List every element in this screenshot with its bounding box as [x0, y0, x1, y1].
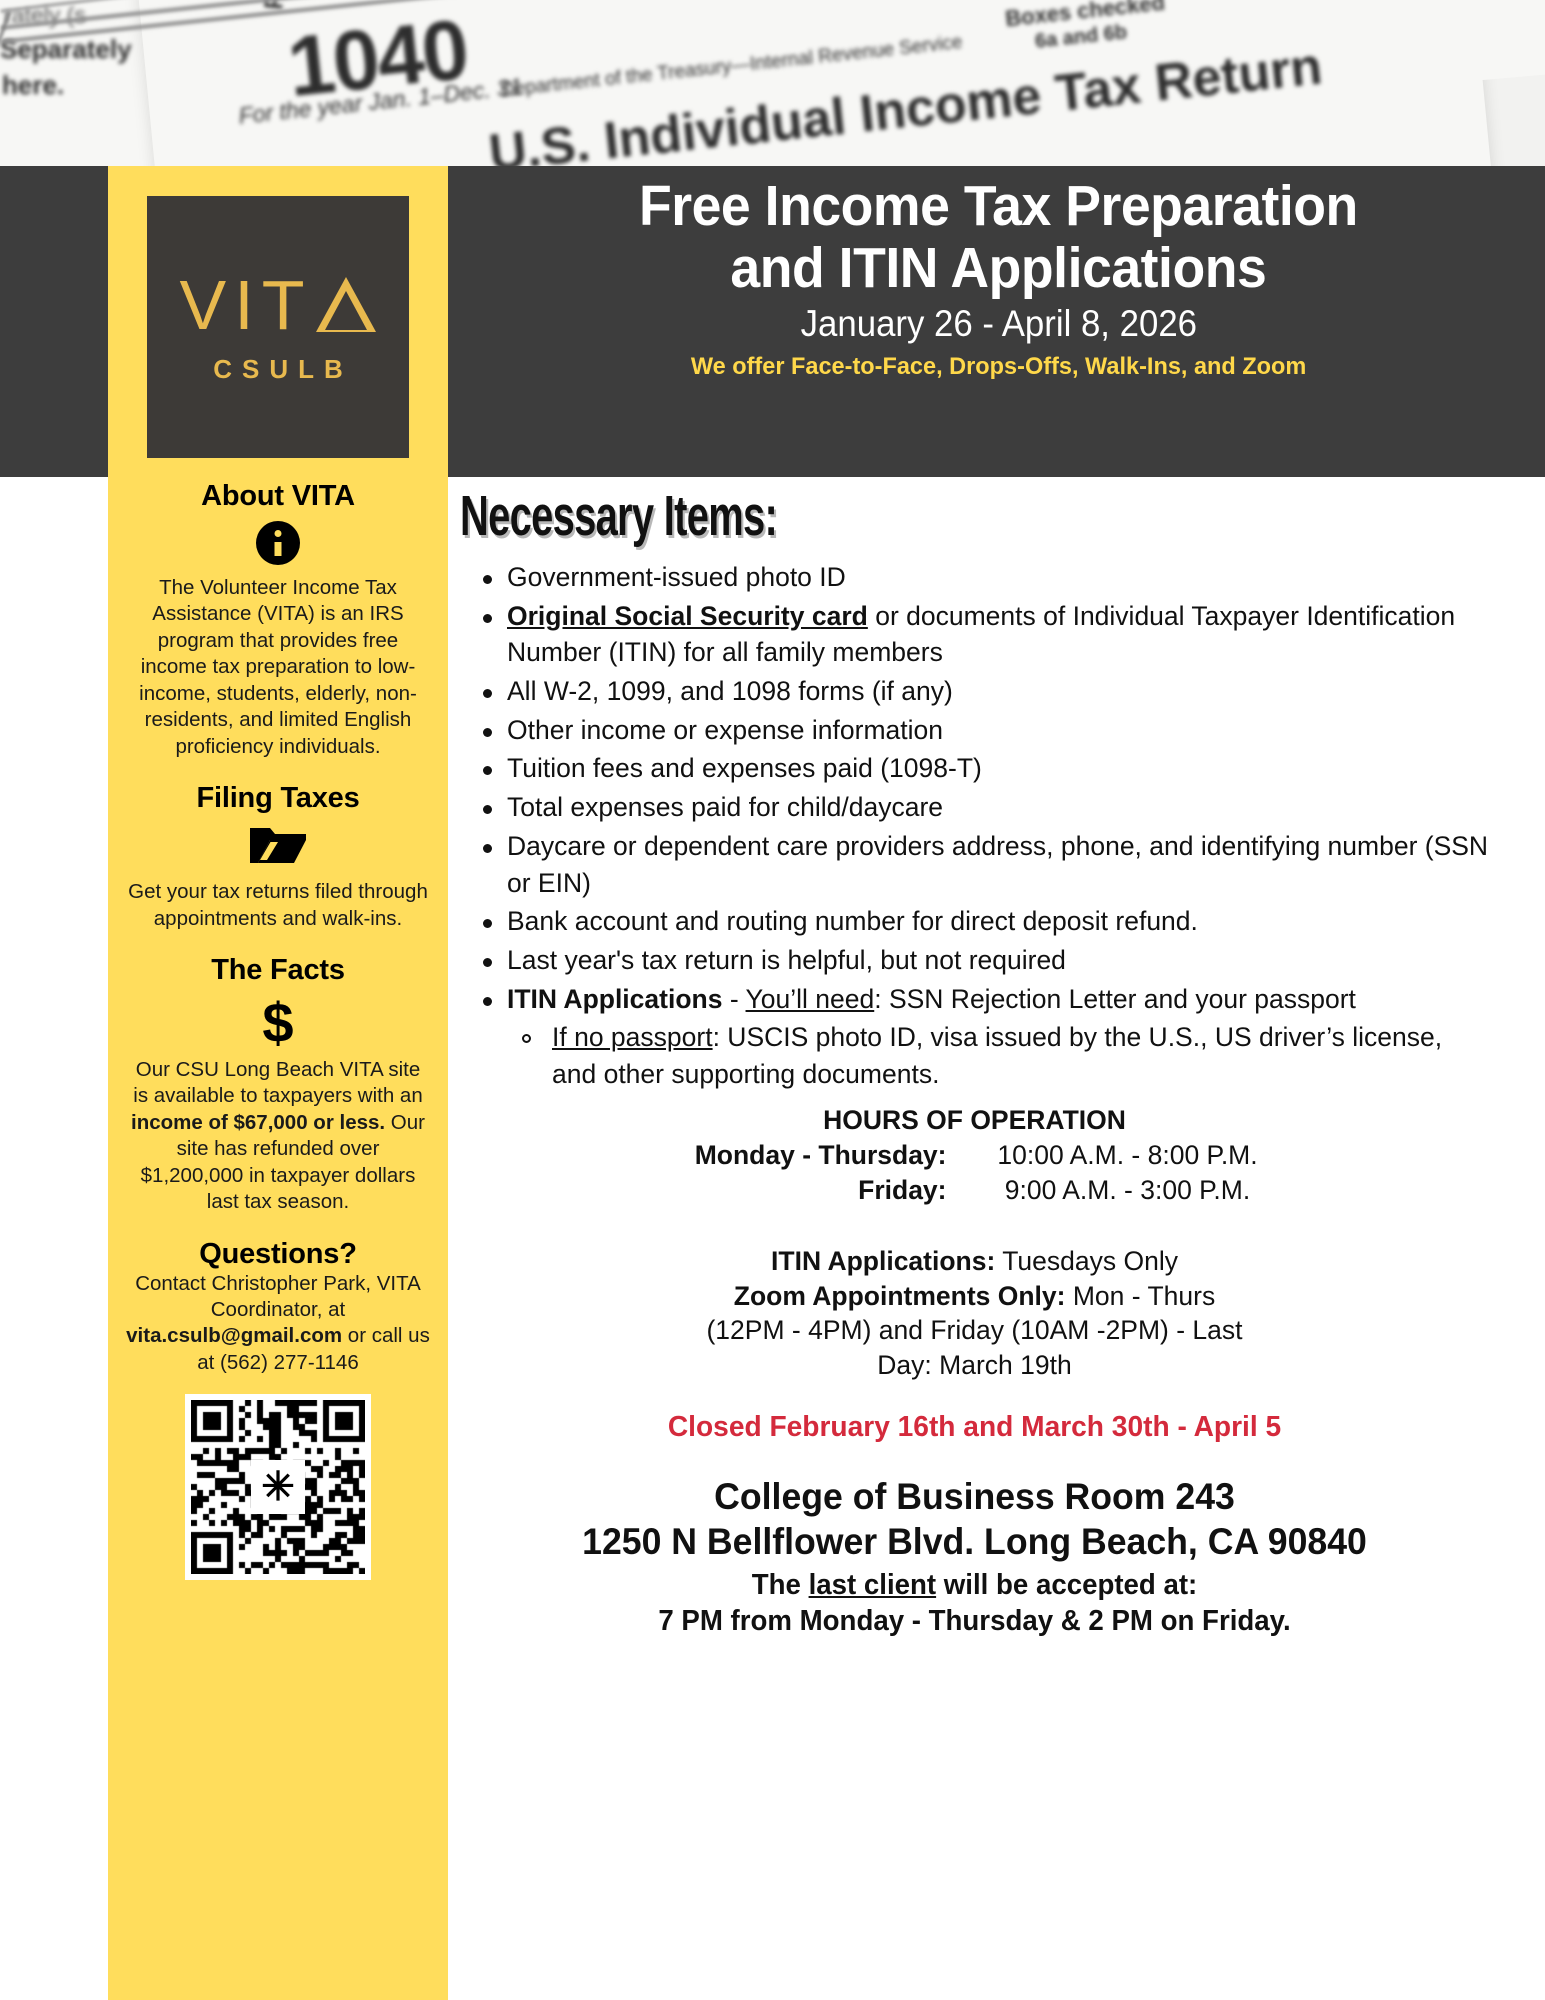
necessary-item: Government-issued photo ID — [460, 559, 1489, 596]
hours-row: Friday: 9:00 A.M. - 3:00 P.M. — [460, 1173, 1489, 1208]
itin-appointments-line: ITIN Applications: Tuesdays Only — [460, 1244, 1489, 1279]
date-range-subtitle: January 26 - April 8, 2026 — [800, 303, 1196, 345]
logo-triangle-a-icon — [316, 277, 376, 332]
page-title-line1: Free Income Tax Preparation — [639, 176, 1358, 238]
folder-icon — [248, 823, 308, 869]
qr-center-star-icon: ✳ — [251, 1460, 305, 1514]
logo-letter-i: I — [234, 270, 255, 340]
sidebar-heading-questions: Questions? — [120, 1238, 436, 1271]
dollar-icon-wrap: $ — [120, 995, 436, 1051]
zoom-appointments-line: Zoom Appointments Only: Mon - Thurs — [460, 1279, 1489, 1314]
sidebar-body-about-vita: The Volunteer Income Tax Assistance (VIT… — [120, 575, 436, 760]
hours-of-operation-block: HOURS OF OPERATION Monday - Thursday: 10… — [460, 1103, 1489, 1208]
hours-day-label: Friday: — [657, 1173, 963, 1208]
info-icon — [256, 521, 300, 565]
service-modes-tagline: We offer Face-to-Face, Drops-Offs, Walk-… — [691, 353, 1307, 381]
sidebar-heading-the-facts: The Facts — [120, 954, 436, 987]
last-client-times: 7 PM from Monday - Thursday & 2 PM on Fr… — [475, 1604, 1473, 1640]
hours-title: HOURS OF OPERATION — [460, 1103, 1489, 1138]
necessary-item: Total expenses paid for child/daycare — [460, 789, 1489, 826]
hours-time-value: 9:00 A.M. - 3:00 P.M. — [963, 1173, 1293, 1208]
vita-csulb-logo: V I T CSULB — [147, 196, 409, 458]
info-icon-wrap — [120, 521, 436, 569]
necessary-item: Last year's tax return is helpful, but n… — [460, 942, 1489, 979]
hours-row: Monday - Thursday: 10:00 A.M. - 8:00 P.M… — [460, 1138, 1489, 1173]
header-text-block: Free Income Tax Preparation and ITIN App… — [452, 166, 1545, 477]
logo-wordmark: V I T — [180, 270, 377, 340]
dollar-icon: $ — [262, 991, 293, 1054]
qr-code[interactable]: ✳ — [185, 1394, 371, 1580]
itin-appointments-value: Tuesdays Only — [995, 1246, 1178, 1276]
sidebar: V I T CSULB About VITA The Volunteer Inc… — [108, 166, 448, 2000]
tax-form-photo-banner: rately (s Separately here. Form 1040 Dep… — [0, 0, 1545, 166]
sidebar-body-the-facts: Our CSU Long Beach VITA site is availabl… — [120, 1057, 436, 1216]
address-block: College of Business Room 243 1250 N Bell… — [460, 1474, 1489, 1639]
qr-code-wrap[interactable]: ✳ — [120, 1394, 436, 1580]
hours-time-value: 10:00 A.M. - 8:00 P.M. — [963, 1138, 1293, 1173]
zoom-appointments-last-day: Day: March 19th — [460, 1348, 1489, 1383]
address-room: College of Business Room 243 — [486, 1474, 1464, 1519]
page-title-line2: and ITIN Applications — [639, 238, 1358, 300]
necessary-items-list: Government-issued photo IDOriginal Socia… — [460, 559, 1489, 1093]
address-street: 1250 N Bellflower Blvd. Long Beach, CA 9… — [486, 1519, 1464, 1564]
vita-flyer: rately (s Separately here. Form 1040 Dep… — [0, 0, 1545, 2000]
appointments-block: ITIN Applications: Tuesdays Only Zoom Ap… — [460, 1244, 1489, 1384]
necessary-item: Other income or expense information — [460, 712, 1489, 749]
necessary-item: Bank account and routing number for dire… — [460, 903, 1489, 940]
necessary-item-sub: If no passport: USCIS photo ID, visa iss… — [460, 1019, 1489, 1092]
itin-appointments-label: ITIN Applications: — [771, 1246, 995, 1276]
necessary-item: ITIN Applications - You’ll need: SSN Rej… — [460, 981, 1489, 1018]
sidebar-body-filing-taxes: Get your tax returns filed through appoi… — [120, 879, 436, 932]
last-client-notice: The last client will be accepted at: — [475, 1568, 1473, 1604]
necessary-item: Tuition fees and expenses paid (1098-T) — [460, 750, 1489, 787]
sidebar-body-questions: Contact Christopher Park, VITA Coordinat… — [120, 1271, 436, 1377]
zoom-appointments-detail: (12PM - 4PM) and Friday (10AM -2PM) - La… — [460, 1313, 1489, 1348]
sidebar-heading-about-vita: About VITA — [120, 480, 436, 513]
main-content: Necessary Items: Government-issued photo… — [452, 477, 1507, 1640]
last-client-underlined: last client — [809, 1569, 937, 1601]
last-client-pre: The — [752, 1569, 809, 1601]
folder-icon-wrap — [120, 823, 436, 873]
closed-notice: Closed February 16th and March 30th - Ap… — [475, 1411, 1473, 1444]
logo-letter-t: T — [262, 270, 307, 340]
necessary-item: Original Social Security card or documen… — [460, 598, 1489, 671]
hours-day-label: Monday - Thursday: — [657, 1138, 963, 1173]
necessary-item: All W-2, 1099, and 1098 forms (if any) — [460, 673, 1489, 710]
zoom-appointments-label: Zoom Appointments Only: — [734, 1281, 1066, 1311]
sidebar-heading-filing-taxes: Filing Taxes — [120, 782, 436, 815]
logo-letter-v: V — [180, 270, 229, 340]
necessary-item: Daycare or dependent care providers addr… — [460, 828, 1489, 901]
section-title-necessary-items: Necessary Items: — [460, 483, 1180, 549]
page-title: Free Income Tax Preparation and ITIN App… — [611, 176, 1386, 299]
zoom-appointments-value: Mon - Thurs — [1065, 1281, 1215, 1311]
photo-text-here: here. — [2, 70, 64, 101]
last-client-post: will be accepted at: — [936, 1569, 1197, 1601]
logo-subtext: CSULB — [213, 354, 353, 385]
